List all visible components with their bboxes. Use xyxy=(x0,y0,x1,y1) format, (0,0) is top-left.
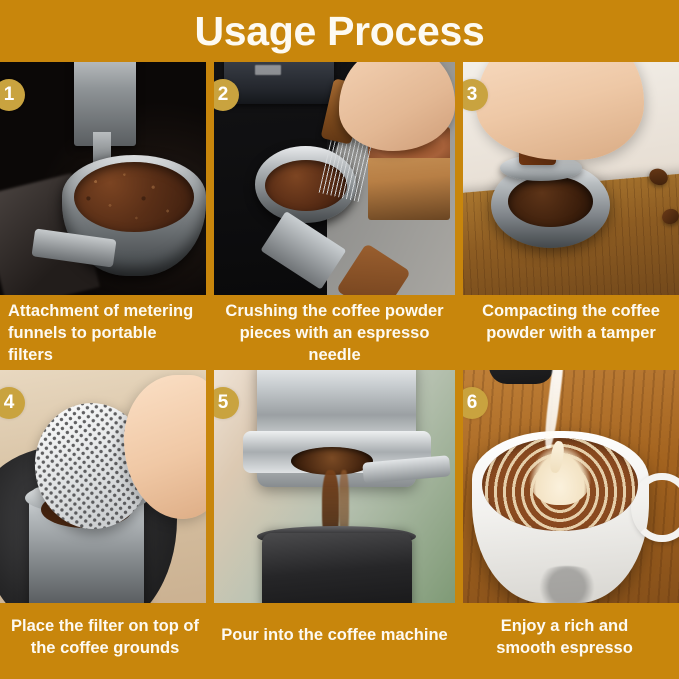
step-caption-5: Pour into the coffee machine xyxy=(218,625,451,647)
step-panel-3: 3 xyxy=(463,62,679,295)
step-5-photo xyxy=(214,370,455,603)
step-6-photo xyxy=(463,370,679,603)
step-caption-6: Enjoy a rich and smooth espresso xyxy=(472,616,657,660)
step-panel-2: 2 xyxy=(214,62,455,295)
step-panel-4: 4 xyxy=(0,370,206,603)
step-1-photo xyxy=(0,62,206,295)
usage-process-infographic: Usage Process 1 Attachment of metering f… xyxy=(0,0,679,679)
step-3-photo xyxy=(463,62,679,295)
step-panel-1: 1 xyxy=(0,62,206,295)
step-2-photo xyxy=(214,62,455,295)
title-bar: Usage Process xyxy=(0,0,679,62)
step-panel-6: 6 xyxy=(463,370,679,603)
step-caption-2: Crushing the coffee powder pieces with a… xyxy=(218,301,451,367)
page-title: Usage Process xyxy=(194,11,484,52)
step-caption-3: Compacting the coffee powder with a tamp… xyxy=(465,301,677,345)
step-4-photo xyxy=(0,370,206,603)
step-panel-5: 5 xyxy=(214,370,455,603)
step-caption-4: Place the filter on top of the coffee gr… xyxy=(6,616,204,660)
step-caption-1: Attachment of metering funnels to portab… xyxy=(8,301,204,367)
